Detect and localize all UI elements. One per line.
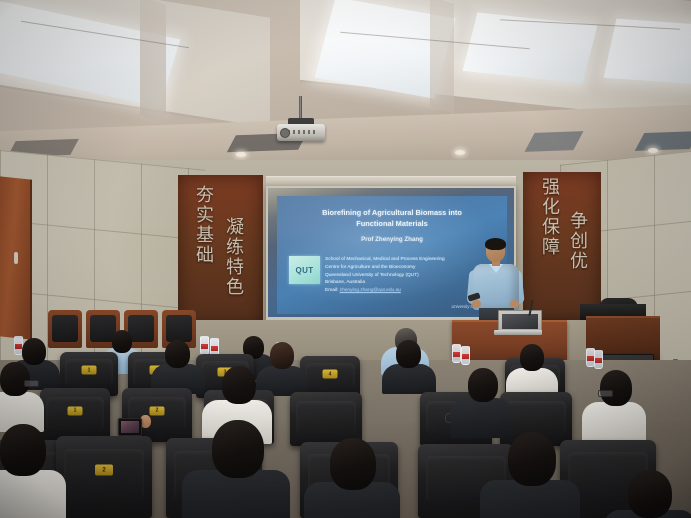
seat-number-plate: 4: [323, 370, 338, 379]
banner-char: 夯: [196, 186, 214, 206]
wall-banner-left: [178, 175, 263, 325]
wooden-chair[interactable]: [48, 310, 82, 348]
banner-char: 障: [542, 238, 560, 258]
banner-char: 基: [196, 226, 214, 246]
banner-text-left-2: 凝 练 特 色: [226, 218, 244, 299]
seat-backrest: [506, 401, 566, 434]
seat-number-plate: 2: [95, 465, 113, 476]
person-head: [520, 344, 544, 371]
person-shoulders: [382, 364, 436, 394]
email-label: Email:: [325, 288, 338, 293]
presenter-left-hand: [472, 300, 481, 308]
banner-char: 练: [226, 238, 244, 258]
door-handle-icon[interactable]: [14, 252, 18, 264]
person-head: [22, 338, 46, 365]
ceiling-fold: [430, 0, 454, 114]
banner-char: 实: [196, 206, 214, 226]
presenter-hair: [485, 238, 506, 250]
smartphone[interactable]: [118, 418, 142, 436]
presenter-right-hand: [510, 300, 519, 308]
person-head: [212, 420, 264, 478]
ceiling-fold: [140, 0, 166, 125]
water-bottle: [200, 336, 209, 355]
banner-char: 创: [570, 232, 588, 252]
auditorium-seat[interactable]: 1: [40, 388, 110, 442]
person-shoulders: [582, 402, 646, 444]
ceiling-downlight: [236, 152, 246, 157]
qut-logo: QUT: [289, 256, 320, 284]
eyeglasses-icon: [598, 390, 613, 397]
banner-char: 争: [570, 212, 588, 232]
banner-char: 化: [542, 198, 560, 218]
slide-title-line-1: Biorefining of Agricultural Biomass into: [287, 208, 497, 219]
phone-screen: [121, 421, 139, 433]
banner-char: 优: [570, 252, 588, 272]
person-head: [468, 368, 498, 402]
seat-number-plate: 2: [150, 406, 165, 415]
banner-text-left-1: 夯 实 基 础: [196, 186, 214, 267]
projector-lens-icon: [280, 128, 290, 138]
auditorium-seat[interactable]: 2: [56, 436, 152, 518]
laptop-keyboard[interactable]: [494, 330, 542, 335]
seat-number-plate: 1: [82, 366, 97, 375]
person-head: [112, 330, 132, 353]
person-head: [330, 438, 376, 490]
banner-char: 础: [196, 246, 214, 266]
seat-number-plate: 1: [68, 406, 83, 415]
person-head: [396, 340, 421, 368]
person-head: [0, 362, 30, 396]
person-head: [165, 340, 190, 368]
banner-char: 色: [226, 278, 244, 298]
person-shoulders: [450, 398, 512, 438]
person-head: [222, 366, 256, 404]
banner-char: 凝: [226, 218, 244, 238]
water-bottle: [594, 350, 603, 369]
lecture-hall-photo: 夯 实 基 础 凝 练 特 色 强 化 保 障 争 创 优 Biorefinin…: [0, 0, 691, 518]
water-bottle: [461, 346, 470, 365]
banner-text-right-1: 强 化 保 障: [542, 178, 560, 259]
person-head: [270, 342, 294, 369]
person-head: [0, 424, 46, 476]
wall-banner-right: [523, 172, 601, 322]
email-link[interactable]: zhenying.zhang@qut.edu.au: [340, 288, 401, 293]
seat-backrest: [296, 401, 356, 434]
ceiling-downlight: [455, 150, 465, 155]
banner-char: 保: [542, 218, 560, 238]
person-head: [628, 470, 672, 518]
ceiling-downlight: [648, 148, 658, 153]
slide-title: Biorefining of Agricultural Biomass into…: [287, 208, 497, 229]
ceiling-vent: [635, 131, 691, 151]
person-shoulders: [0, 470, 66, 518]
person-head: [600, 370, 632, 406]
banner-char: 特: [226, 258, 244, 278]
person-head: [508, 432, 556, 486]
banner-text-right-2: 争 创 优: [570, 212, 588, 272]
banner-char: 强: [542, 178, 560, 198]
slide-title-line-2: Functional Materials: [287, 219, 497, 230]
water-bottle: [452, 344, 461, 363]
eyeglasses-icon: [24, 380, 39, 387]
